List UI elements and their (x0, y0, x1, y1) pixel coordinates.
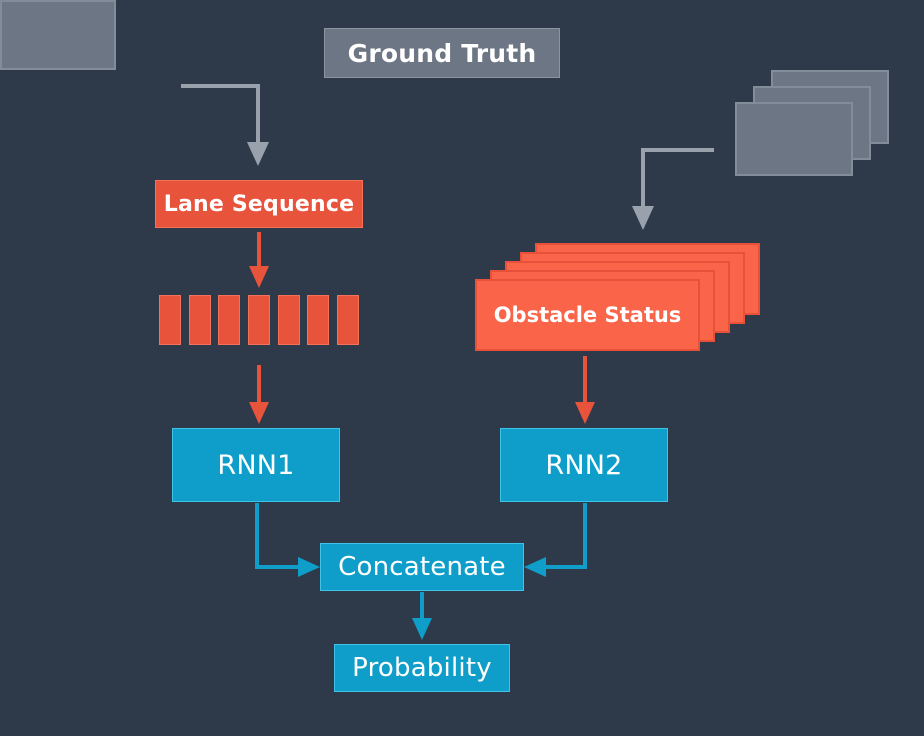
connector-concatenate-to-probability (412, 592, 432, 640)
obstacle-source-sheet (735, 102, 853, 176)
concatenate-node[interactable]: Concatenate (320, 543, 524, 591)
probability-node[interactable]: Probability (334, 644, 510, 692)
diagram-canvas: Ground Truth Lane Sequence Obstacle Stat… (0, 0, 924, 736)
lane-token-row (159, 295, 359, 345)
connector-obstacle-source-to-status (632, 150, 714, 230)
lane-token (189, 295, 211, 345)
connector-rnn2-to-concatenate (524, 503, 585, 577)
connector-map-source-to-lane-sequence (181, 86, 269, 166)
connector-lane-sequence-to-tokens (249, 232, 269, 288)
connector-rnn1-to-concatenate (257, 503, 320, 577)
obstacle-status-label: Obstacle Status (475, 279, 700, 351)
lane-token (337, 295, 359, 345)
rnn1-node[interactable]: RNN1 (172, 428, 340, 502)
lane-token (278, 295, 300, 345)
lane-sequence-node[interactable]: Lane Sequence (155, 180, 363, 228)
ground-truth-label: Ground Truth (324, 28, 560, 78)
lane-token (248, 295, 270, 345)
lane-token (307, 295, 329, 345)
connector-obstacle-status-to-rnn2 (575, 356, 595, 424)
obstacle-source-stack (735, 70, 885, 190)
connector-tokens-to-rnn1 (249, 365, 269, 424)
obstacle-status-node[interactable]: Obstacle Status (475, 243, 765, 353)
lane-token (218, 295, 240, 345)
lane-token (159, 295, 181, 345)
rnn2-node[interactable]: RNN2 (500, 428, 668, 502)
